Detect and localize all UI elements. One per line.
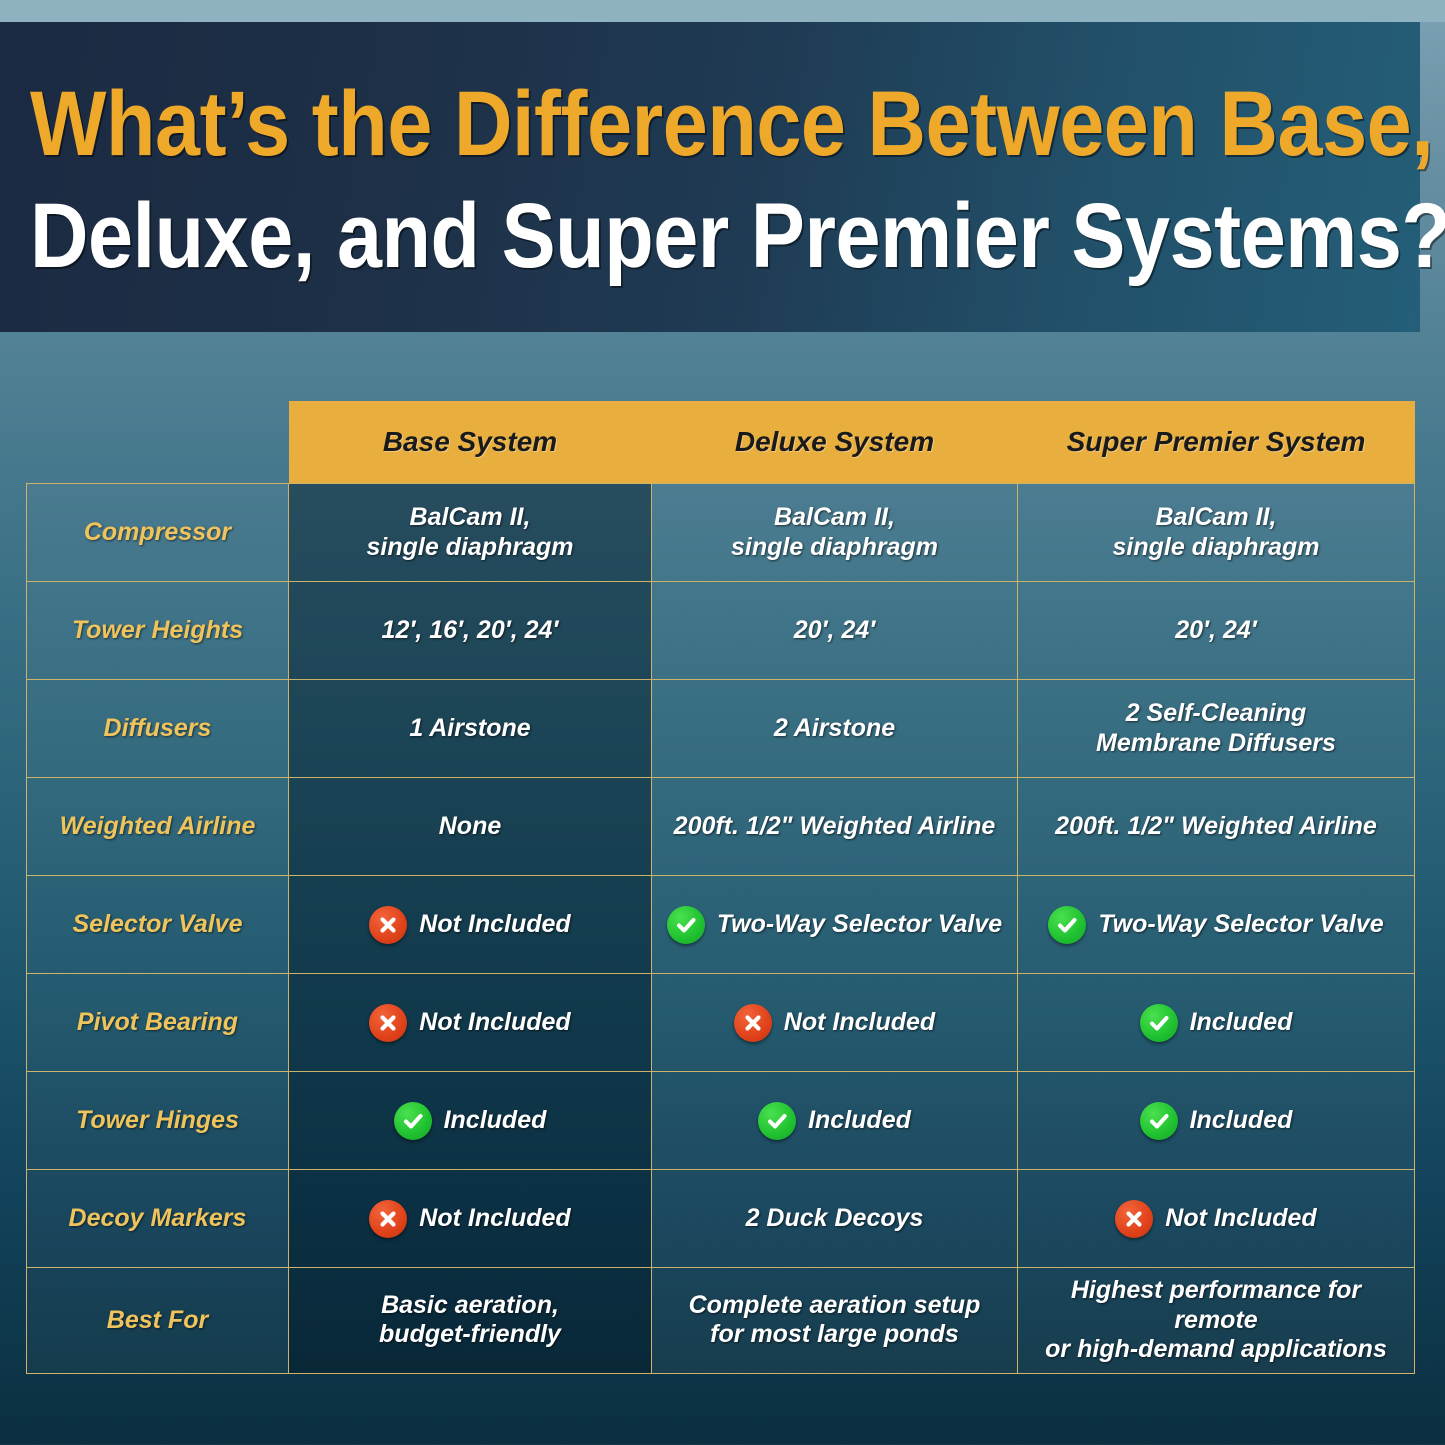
cell-text: Not Included (419, 910, 570, 940)
cell-super-premier-system-row-5: Two-Way Selector Valve (1018, 876, 1415, 974)
cell-base-system-row-3: 1 Airstone (289, 680, 652, 778)
cell-text: Two-Way Selector Valve (717, 910, 1002, 940)
cell-content: 200ft. 1/2" Weighted Airline (662, 812, 1007, 842)
cell-content: Basic aeration,budget-friendly (299, 1291, 641, 1350)
cell-text: 12′, 16′, 20′, 24′ (382, 616, 559, 646)
not-included-x-icon (1115, 1200, 1153, 1238)
cell-content: 20′, 24′ (662, 616, 1007, 646)
cell-content: 200ft. 1/2" Weighted Airline (1028, 812, 1404, 842)
cell-text: BalCam II,single diaphragm (1113, 503, 1320, 562)
row-label-tower-heights: Tower Heights (27, 582, 289, 680)
banner-title-block: What’s the Difference Between Base, Delu… (30, 68, 1394, 292)
cell-text: Included (444, 1106, 547, 1136)
cell-super-premier-system-row-2: 20′, 24′ (1018, 582, 1415, 680)
header-corner-cell (27, 401, 289, 484)
cell-text: 2 Airstone (774, 714, 895, 744)
included-check-icon (758, 1102, 796, 1140)
table-row: Best ForBasic aeration,budget-friendlyCo… (27, 1268, 1415, 1374)
row-label-pivot-bearing: Pivot Bearing (27, 974, 289, 1072)
table-row: Selector ValveNot IncludedTwo-Way Select… (27, 876, 1415, 974)
cell-content: Not Included (299, 906, 641, 944)
cell-text: 200ft. 1/2" Weighted Airline (1055, 812, 1377, 842)
column-header-super-premier-system: Super Premier System (1018, 401, 1415, 484)
not-included-x-icon (734, 1004, 772, 1042)
row-label-decoy-markers: Decoy Markers (27, 1170, 289, 1268)
cell-content: Highest performance for remoteor high-de… (1028, 1276, 1404, 1365)
cell-content: Included (1028, 1102, 1404, 1140)
cell-content: Not Included (299, 1200, 641, 1238)
cell-super-premier-system-row-9: Highest performance for remoteor high-de… (1018, 1268, 1415, 1374)
table-row: Tower HingesIncludedIncludedIncluded (27, 1072, 1415, 1170)
cell-content: Included (299, 1102, 641, 1140)
cell-super-premier-system-row-4: 200ft. 1/2" Weighted Airline (1018, 778, 1415, 876)
cell-content: BalCam II,single diaphragm (299, 503, 641, 562)
cell-deluxe-system-row-8: 2 Duck Decoys (652, 1170, 1018, 1268)
row-label-best-for: Best For (27, 1268, 289, 1374)
cell-content: 1 Airstone (299, 714, 641, 744)
cell-base-system-row-5: Not Included (289, 876, 652, 974)
table-row: Diffusers1 Airstone2 Airstone2 Self-Clea… (27, 680, 1415, 778)
cell-super-premier-system-row-6: Included (1018, 974, 1415, 1072)
cell-deluxe-system-row-1: BalCam II,single diaphragm (652, 484, 1018, 582)
cell-deluxe-system-row-5: Two-Way Selector Valve (652, 876, 1018, 974)
infographic-page: What’s the Difference Between Base, Delu… (0, 0, 1445, 1445)
cell-content: 2 Airstone (662, 714, 1007, 744)
table-row: Tower Heights12′, 16′, 20′, 24′20′, 24′2… (27, 582, 1415, 680)
cell-base-system-row-2: 12′, 16′, 20′, 24′ (289, 582, 652, 680)
cell-deluxe-system-row-6: Not Included (652, 974, 1018, 1072)
top-accent-strip (0, 0, 1445, 22)
cell-text: 20′, 24′ (1175, 616, 1257, 646)
cell-text: 20′, 24′ (794, 616, 876, 646)
cell-text: 2 Duck Decoys (746, 1204, 924, 1234)
cell-deluxe-system-row-2: 20′, 24′ (652, 582, 1018, 680)
cell-content: 2 Self-CleaningMembrane Diffusers (1028, 699, 1404, 758)
cell-text: Basic aeration,budget-friendly (379, 1291, 561, 1350)
cell-text: 200ft. 1/2" Weighted Airline (674, 812, 996, 842)
cell-base-system-row-9: Basic aeration,budget-friendly (289, 1268, 652, 1374)
cell-super-premier-system-row-7: Included (1018, 1072, 1415, 1170)
row-label-weighted-airline: Weighted Airline (27, 778, 289, 876)
table-body: CompressorBalCam II,single diaphragmBalC… (27, 484, 1415, 1374)
cell-base-system-row-4: None (289, 778, 652, 876)
cell-content: 20′, 24′ (1028, 616, 1404, 646)
cell-base-system-row-8: Not Included (289, 1170, 652, 1268)
cell-super-premier-system-row-1: BalCam II,single diaphragm (1018, 484, 1415, 582)
page-title-line-1: What’s the Difference Between Base, (30, 68, 1230, 180)
table-row: Decoy MarkersNot Included2 Duck DecoysNo… (27, 1170, 1415, 1268)
cell-content: BalCam II,single diaphragm (1028, 503, 1404, 562)
cell-text: 2 Self-CleaningMembrane Diffusers (1096, 699, 1336, 758)
cell-deluxe-system-row-9: Complete aeration setupfor most large po… (652, 1268, 1018, 1374)
included-check-icon (394, 1102, 432, 1140)
cell-content: Not Included (662, 1004, 1007, 1042)
cell-content: Two-Way Selector Valve (662, 906, 1007, 944)
cell-text: Highest performance for remoteor high-de… (1028, 1276, 1404, 1365)
cell-text: Not Included (1165, 1204, 1316, 1234)
cell-content: None (299, 812, 641, 842)
cell-deluxe-system-row-3: 2 Airstone (652, 680, 1018, 778)
cell-deluxe-system-row-4: 200ft. 1/2" Weighted Airline (652, 778, 1018, 876)
comparison-table: Base System Deluxe System Super Premier … (26, 401, 1415, 1374)
included-check-icon (1048, 906, 1086, 944)
not-included-x-icon (369, 906, 407, 944)
included-check-icon (1140, 1004, 1178, 1042)
table-header-row: Base System Deluxe System Super Premier … (27, 401, 1415, 484)
row-label-tower-hinges: Tower Hinges (27, 1072, 289, 1170)
title-banner: What’s the Difference Between Base, Delu… (0, 22, 1420, 332)
cell-text: Not Included (419, 1204, 570, 1234)
cell-text: Two-Way Selector Valve (1098, 910, 1383, 940)
cell-content: Included (1028, 1004, 1404, 1042)
row-label-compressor: Compressor (27, 484, 289, 582)
cell-content: 12′, 16′, 20′, 24′ (299, 616, 641, 646)
cell-text: Complete aeration setupfor most large po… (689, 1291, 981, 1350)
column-header-deluxe-system: Deluxe System (652, 401, 1018, 484)
cell-base-system-row-6: Not Included (289, 974, 652, 1072)
cell-text: 1 Airstone (409, 714, 530, 744)
table-row: Pivot BearingNot IncludedNot IncludedInc… (27, 974, 1415, 1072)
comparison-table-wrapper: Base System Deluxe System Super Premier … (26, 401, 1414, 1374)
cell-text: None (439, 812, 502, 842)
row-label-diffusers: Diffusers (27, 680, 289, 778)
page-title-line-2: Deluxe, and Super Premier Systems? (30, 180, 1230, 292)
column-header-base-system: Base System (289, 401, 652, 484)
included-check-icon (1140, 1102, 1178, 1140)
cell-text: BalCam II,single diaphragm (731, 503, 938, 562)
cell-content: Not Included (1028, 1200, 1404, 1238)
cell-base-system-row-7: Included (289, 1072, 652, 1170)
cell-content: 2 Duck Decoys (662, 1204, 1007, 1234)
cell-super-premier-system-row-8: Not Included (1018, 1170, 1415, 1268)
cell-content: Two-Way Selector Valve (1028, 906, 1404, 944)
cell-text: Included (808, 1106, 911, 1136)
table-row: Weighted AirlineNone200ft. 1/2" Weighted… (27, 778, 1415, 876)
table-header: Base System Deluxe System Super Premier … (27, 401, 1415, 484)
cell-deluxe-system-row-7: Included (652, 1072, 1018, 1170)
cell-content: Complete aeration setupfor most large po… (662, 1291, 1007, 1350)
not-included-x-icon (369, 1004, 407, 1042)
cell-super-premier-system-row-3: 2 Self-CleaningMembrane Diffusers (1018, 680, 1415, 778)
cell-text: Included (1190, 1008, 1293, 1038)
table-row: CompressorBalCam II,single diaphragmBalC… (27, 484, 1415, 582)
cell-content: Not Included (299, 1004, 641, 1042)
cell-text: Not Included (784, 1008, 935, 1038)
cell-base-system-row-1: BalCam II,single diaphragm (289, 484, 652, 582)
row-label-selector-valve: Selector Valve (27, 876, 289, 974)
cell-text: BalCam II,single diaphragm (367, 503, 574, 562)
cell-content: BalCam II,single diaphragm (662, 503, 1007, 562)
cell-text: Not Included (419, 1008, 570, 1038)
cell-text: Included (1190, 1106, 1293, 1136)
not-included-x-icon (369, 1200, 407, 1238)
cell-content: Included (662, 1102, 1007, 1140)
included-check-icon (667, 906, 705, 944)
